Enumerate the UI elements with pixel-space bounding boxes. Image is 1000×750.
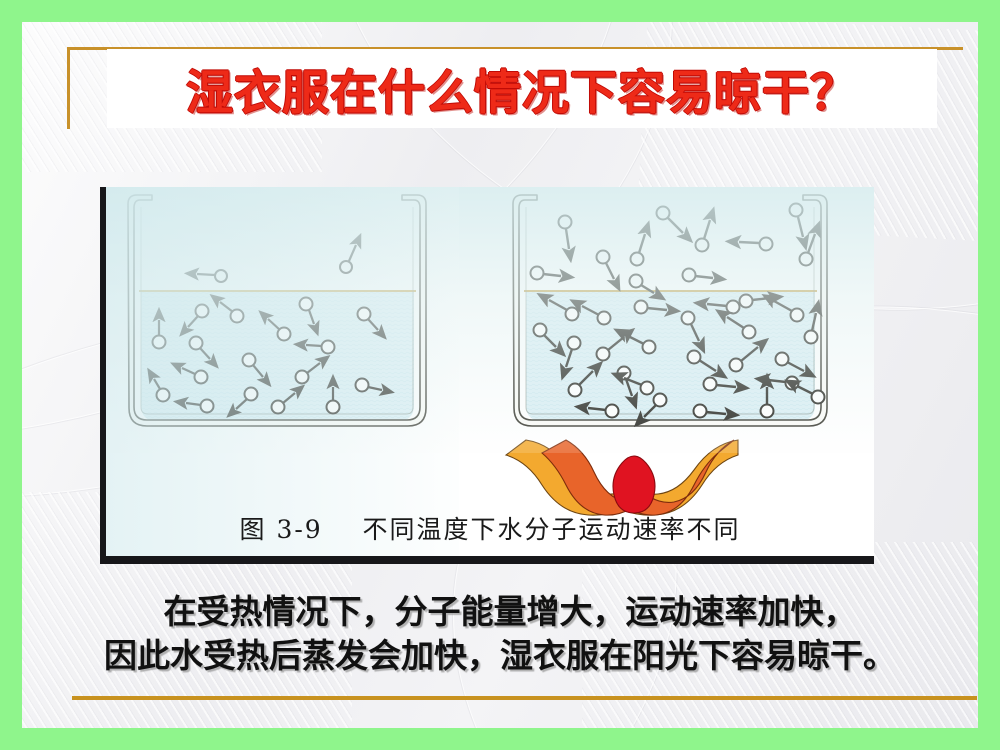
slide-panel: 湿衣服在什么情况下容易晾干？ [22,22,978,728]
figure-caption: 图 3-9 不同温度下水分子运动速率不同 [106,510,874,546]
flame-icon [506,440,738,515]
slide: 湿衣服在什么情况下容易晾干？ [0,0,1000,750]
conclusion-text: 在受热情况下，分子能量增大，运动速率加快， 因此水受热后蒸发会加快，湿衣服在阳光… [44,590,956,678]
conclusion-line-1: 在受热情况下，分子能量增大，运动速率加快， [44,590,956,634]
figure-image: 图 3-9 不同温度下水分子运动速率不同 [100,187,874,564]
molecule-motion-diagram [106,187,874,556]
beaker-room-temperature [128,195,426,426]
title-box: 湿衣服在什么情况下容易晾干？ [107,49,937,128]
molecule-group-vapor-left [197,245,356,282]
gold-rule-bottom [72,696,977,700]
gold-rule-left [67,47,70,129]
molecule-group-vapor-right [531,204,816,294]
figure-canvas: 图 3-9 不同温度下水分子运动速率不同 [106,187,874,556]
beaker-heated [506,195,827,515]
conclusion-line-2: 因此水受热后蒸发会加快，湿衣服在阳光下容易晾干。 [44,634,956,678]
page-title: 湿衣服在什么情况下容易晾干？ [186,54,858,123]
